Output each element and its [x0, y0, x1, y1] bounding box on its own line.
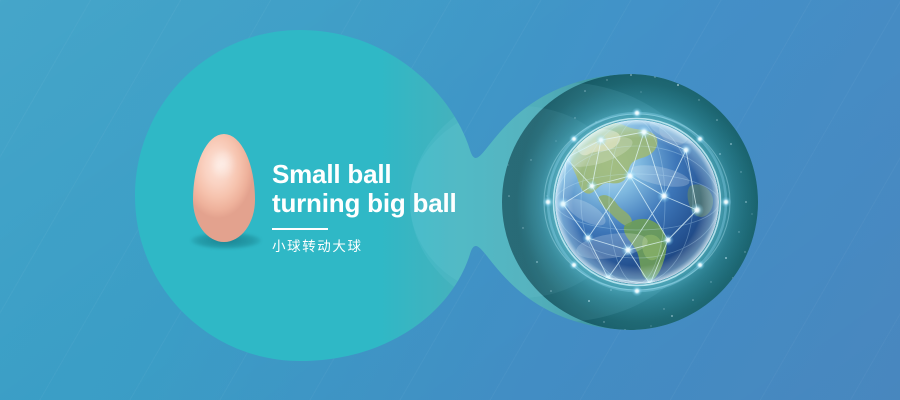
egg-highlight	[210, 150, 236, 180]
egg-illustration	[188, 132, 264, 256]
headline-block: Small ball turning big ball 小球转动大球	[272, 160, 532, 255]
hero-banner: Small ball turning big ball 小球转动大球	[0, 0, 900, 400]
network-globe-illustration	[517, 82, 757, 322]
egg-body	[193, 134, 255, 242]
divider-rule	[272, 228, 328, 230]
headline-line-2: turning big ball	[272, 189, 532, 218]
subtitle-chinese: 小球转动大球	[272, 238, 532, 255]
headline-line-1: Small ball	[272, 160, 532, 189]
